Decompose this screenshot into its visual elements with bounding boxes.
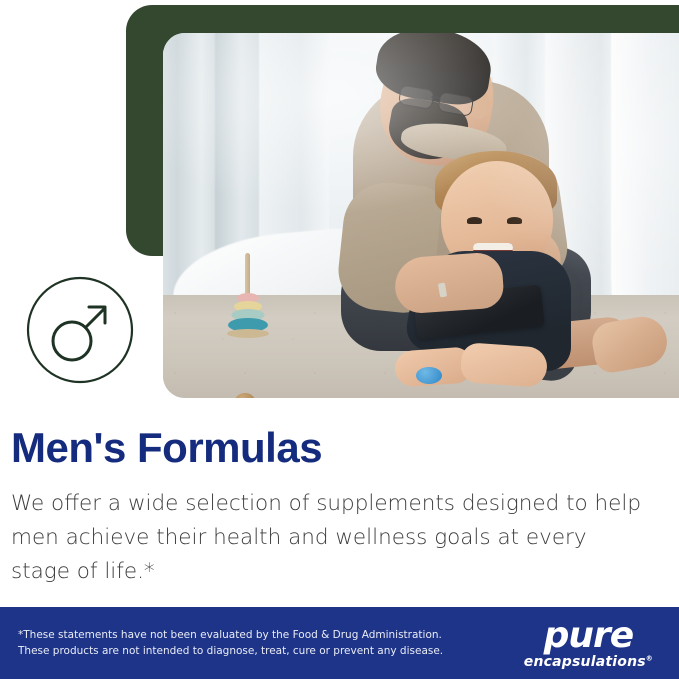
child-eye xyxy=(467,217,482,224)
hero-photo-scene xyxy=(163,33,679,398)
child-eye xyxy=(507,217,522,224)
brand-logo-subword-text: encapsulations xyxy=(524,654,646,670)
child-right-leg xyxy=(460,342,549,388)
registered-mark-icon: ® xyxy=(646,654,653,662)
male-symbol-icon xyxy=(26,276,134,384)
page-root: Men's Formulas We offer a wide selection… xyxy=(0,0,679,679)
hero-photo xyxy=(163,33,679,398)
toy-base xyxy=(227,329,269,338)
child-teeth xyxy=(473,243,513,250)
brand-logo-word: pure xyxy=(524,618,653,654)
footer-bar: *These statements have not been evaluate… xyxy=(0,607,679,679)
stacking-ring-toy xyxy=(221,271,275,345)
father-hands xyxy=(393,251,505,314)
blue-toy xyxy=(416,367,442,384)
brand-logo-subword: encapsulations® xyxy=(524,655,653,669)
page-description: We offer a wide selection of supplements… xyxy=(11,487,651,589)
fda-disclaimer: *These statements have not been evaluate… xyxy=(18,627,443,659)
brand-logo[interactable]: pure encapsulations® xyxy=(524,618,653,669)
page-title: Men's Formulas xyxy=(11,424,322,472)
